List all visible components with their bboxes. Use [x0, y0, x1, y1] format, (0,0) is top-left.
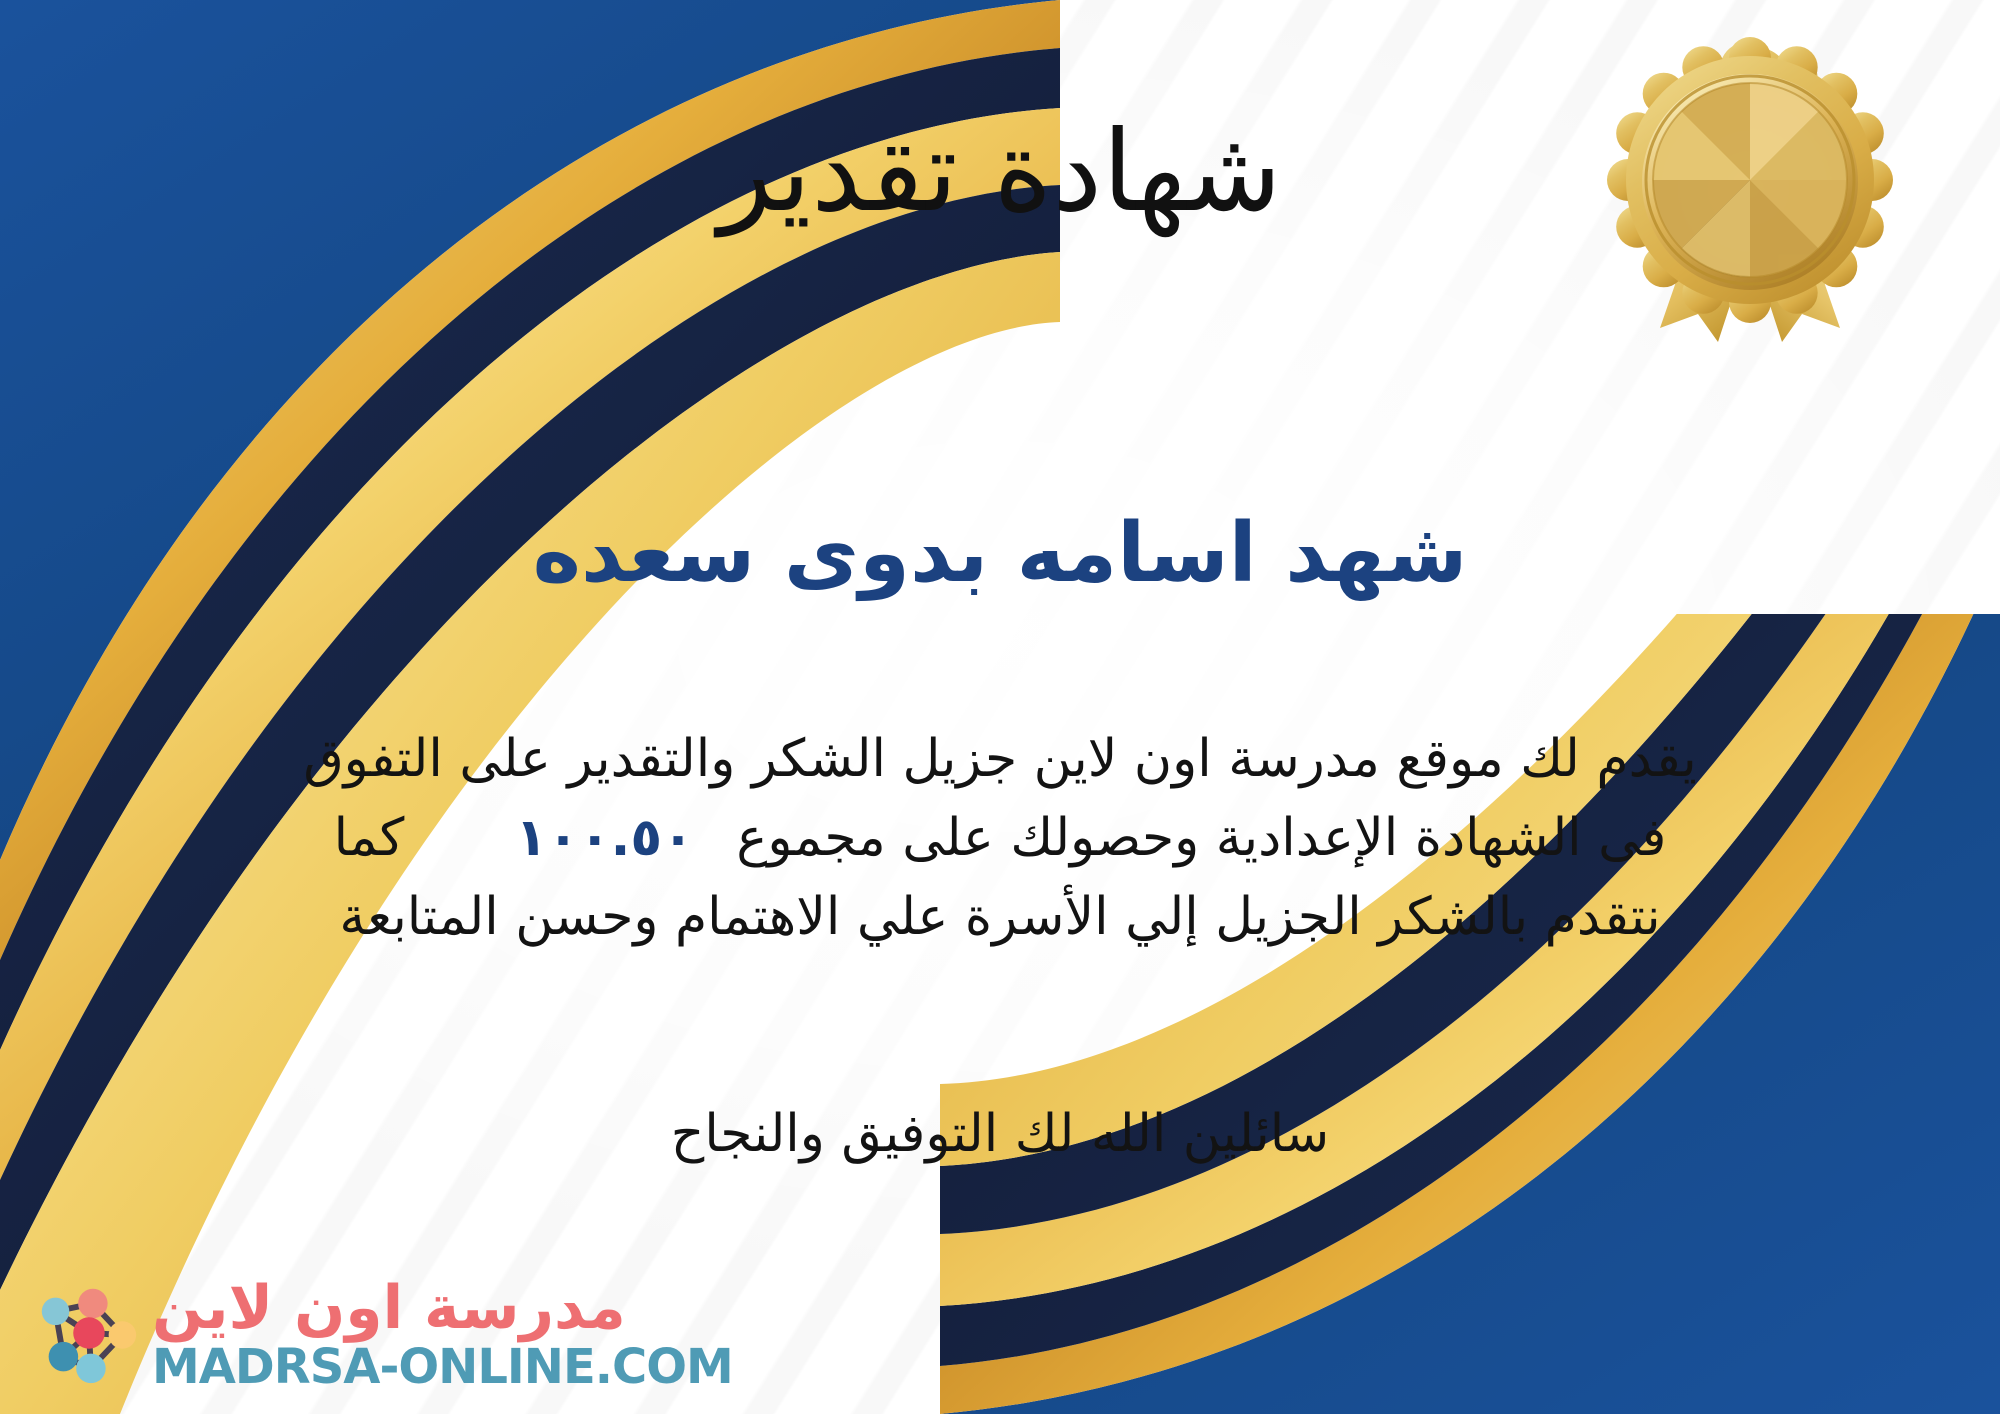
body-line-2-text-before-score: فى الشهادة الإعدادية وحصولك على مجموع: [736, 808, 1666, 868]
network-nodes-icon: [28, 1274, 146, 1392]
certificate-canvas: شهادة تقدير شهد اسامه بدوى سعده يقدم لك …: [0, 0, 2000, 1414]
body-line-3: نتقدم بالشكر الجزيل إلي الأسرة علي الاهت…: [130, 878, 1870, 957]
page-title: شهادة تقدير: [0, 108, 2000, 237]
body-line-2-text-after-score: كما: [334, 808, 405, 868]
brand-name-arabic: مدرسة اون لاين: [152, 1276, 626, 1341]
body-line-1: يقدم لك موقع مدرسة اون لاين جزيل الشكر و…: [130, 720, 1870, 799]
closing-wish-line: سائلين الله لك التوفيق والنجاح: [0, 1095, 2000, 1173]
brand-website: MADRSA-ONLINE.COM: [152, 1341, 733, 1394]
body-line-2: فى الشهادة الإعدادية وحصولك على مجموع ١٠…: [130, 799, 1870, 878]
certificate-content: شهادة تقدير شهد اسامه بدوى سعده يقدم لك …: [0, 0, 2000, 1414]
recipient-name: شهد اسامه بدوى سعده: [0, 505, 2000, 603]
body-paragraph: يقدم لك موقع مدرسة اون لاين جزيل الشكر و…: [130, 720, 1870, 957]
brand-logo[interactable]: مدرسة اون لاين MADRSA-ONLINE.COM: [28, 1274, 733, 1396]
total-score-value: ١٠٠.٥٠: [489, 808, 719, 868]
brand-logo-text: مدرسة اون لاين MADRSA-ONLINE.COM: [152, 1276, 733, 1394]
